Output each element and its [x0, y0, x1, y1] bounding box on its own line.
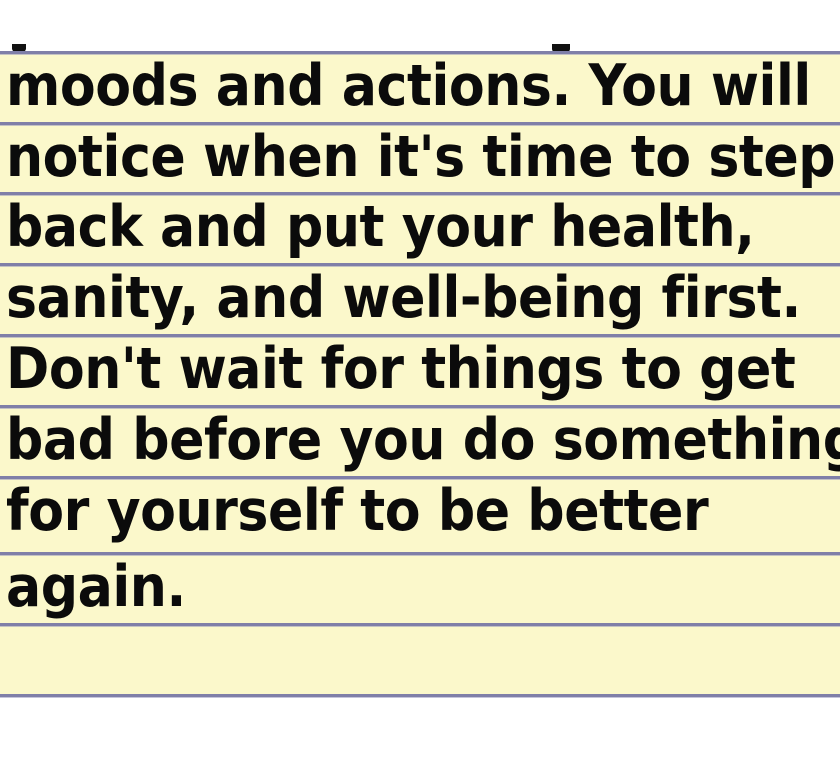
notepad-page: moods and actions. You will notice when …	[0, 0, 840, 752]
handwritten-note-text: moods and actions. You will notice when …	[0, 51, 840, 695]
note-line: sanity, and well-being first.	[6, 263, 769, 334]
note-line: back and put your health,	[6, 192, 769, 263]
note-line: moods and actions. You will	[6, 51, 769, 122]
note-line: Don't wait for things to get	[6, 334, 769, 405]
note-line: again.	[6, 552, 769, 623]
note-line: for yourself to be better	[6, 476, 769, 547]
note-line: notice when it's time to step	[6, 122, 769, 193]
note-line: bad before you do something	[6, 405, 769, 476]
note-line	[6, 694, 769, 765]
note-line	[6, 623, 769, 694]
